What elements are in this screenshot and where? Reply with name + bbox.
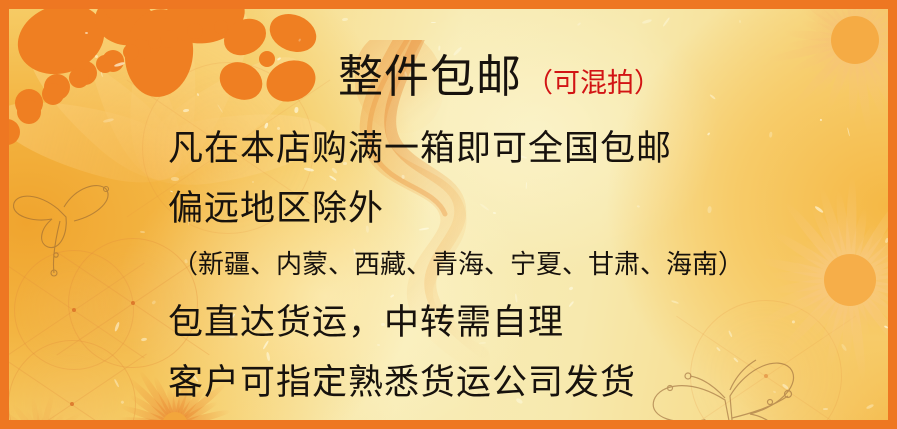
banner-text-content: 整件包邮 （可混拍） 凡在本店购满一箱即可全国包邮 偏远地区除外 （新疆、内蒙、…: [0, 0, 897, 429]
policy-line-4: 包直达货运，中转需自理: [168, 294, 564, 345]
page-title: 整件包邮 （可混拍）: [338, 40, 661, 105]
policy-line-2: 偏远地区除外: [168, 180, 384, 231]
policy-line-5: 客户可指定熟悉货运公司发货: [168, 354, 636, 405]
policy-line-1: 凡在本店购满一箱即可全国包邮: [168, 120, 672, 171]
policy-line-3-excluded-regions: （新疆、内蒙、西藏、青海、宁夏、甘肃、海南）: [172, 244, 744, 281]
headline-main-text: 整件包邮: [338, 40, 522, 105]
headline-sub-text: （可混拍）: [526, 61, 661, 100]
shipping-policy-banner: 整件包邮 （可混拍） 凡在本店购满一箱即可全国包邮 偏远地区除外 （新疆、内蒙、…: [0, 0, 897, 429]
